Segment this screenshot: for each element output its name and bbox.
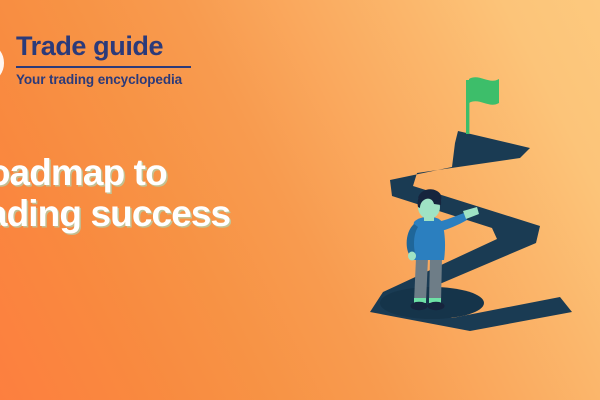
promo-banner: Trade guide Your trading encyclopedia Ro… bbox=[0, 0, 600, 400]
brand-name: Trade guide bbox=[16, 32, 163, 60]
headline-line-1: Roadmap to bbox=[0, 152, 167, 193]
green-flag-icon bbox=[466, 77, 499, 134]
brand-divider bbox=[16, 66, 191, 68]
brand-tagline: Your trading encyclopedia bbox=[16, 72, 182, 87]
headline-line-2: trading success bbox=[0, 193, 230, 234]
page-title: Roadmap to trading success bbox=[0, 152, 230, 235]
